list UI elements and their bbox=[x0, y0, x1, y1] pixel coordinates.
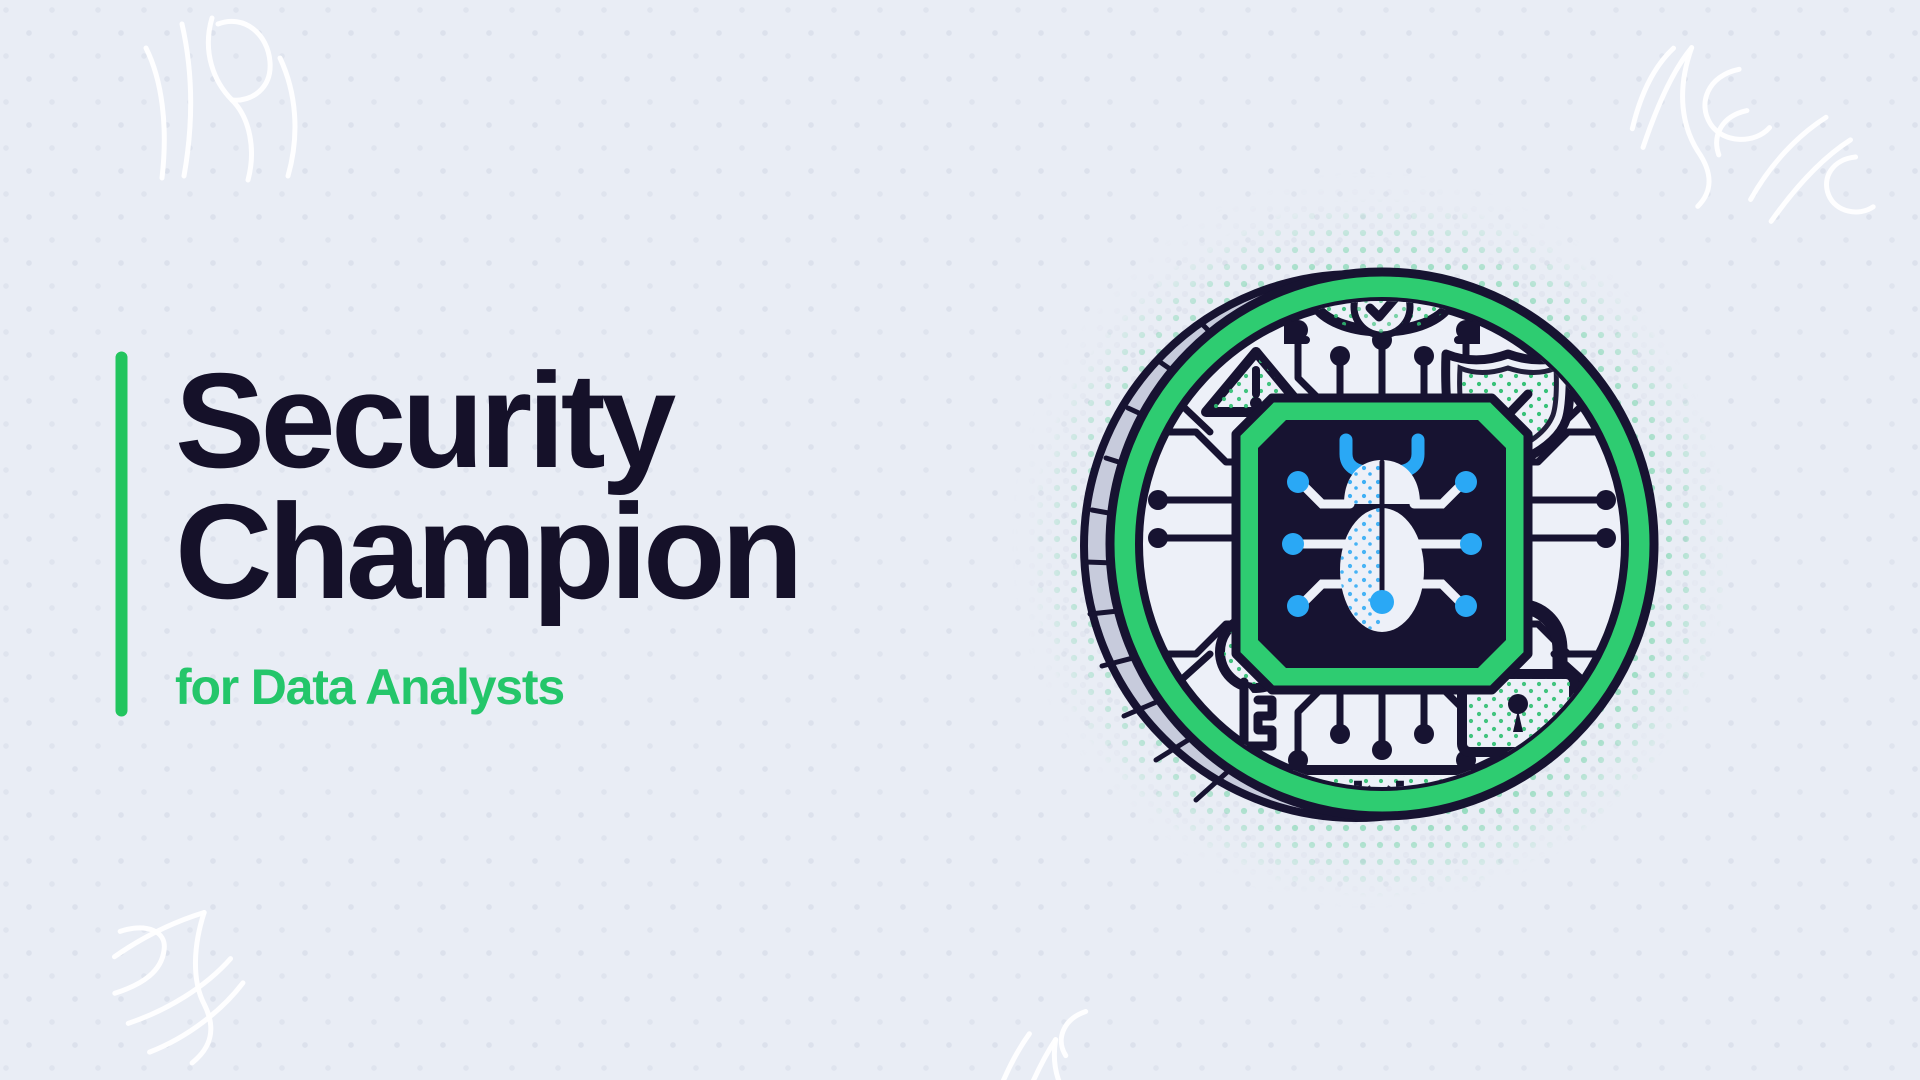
page-title: Security Champion bbox=[175, 356, 799, 618]
squiggle-top-left bbox=[128, 8, 338, 188]
page-subtitle: for Data Analysts bbox=[175, 658, 799, 716]
vertical-accent-bar bbox=[116, 352, 127, 716]
bug-in-chip bbox=[1236, 398, 1528, 690]
security-champion-coin: ✱ ✱ ✱ bbox=[1010, 170, 1730, 910]
squiggle-bottom-left bbox=[94, 873, 332, 1080]
headline-block: Security Champion for Data Analysts bbox=[116, 352, 799, 716]
squiggle-mid-right bbox=[1728, 86, 1920, 263]
banner-canvas: Security Champion for Data Analysts bbox=[0, 0, 1920, 1080]
headline-copy: Security Champion for Data Analysts bbox=[175, 352, 799, 716]
squiggle-bottom-right bbox=[945, 980, 1156, 1080]
